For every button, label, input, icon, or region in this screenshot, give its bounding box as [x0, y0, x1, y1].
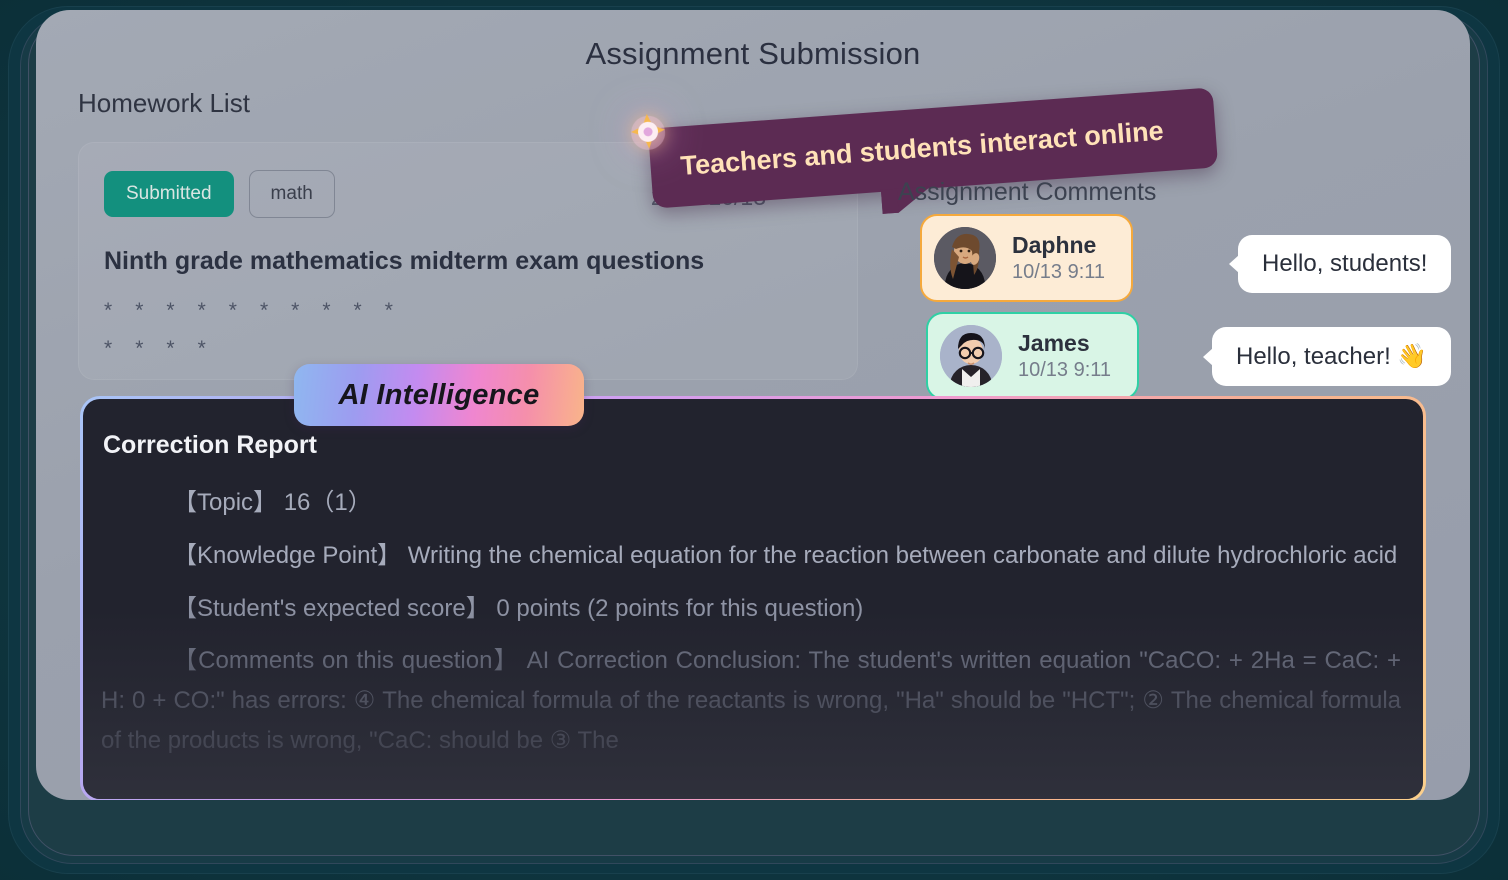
- report-line: 【Knowledge Point】 Writing the chemical e…: [101, 536, 1401, 576]
- masked-char: *: [104, 300, 112, 321]
- ai-intelligence-badge[interactable]: AI Intelligence: [294, 364, 584, 426]
- masked-char: *: [198, 300, 206, 321]
- comment-timestamp: 10/13 9:11: [1012, 261, 1105, 284]
- comment-meta-james: James 10/13 9:11: [1018, 330, 1111, 382]
- comment-timestamp: 10/13 9:11: [1018, 359, 1111, 382]
- masked-char: *: [322, 300, 330, 321]
- report-line: 【Student's expected score】 0 points (2 p…: [101, 589, 1401, 629]
- masked-content-row-1: **********: [104, 300, 393, 321]
- avatar-daphne: [934, 227, 996, 289]
- correction-report-body: 【Topic】 16（1） 【Knowledge Point】 Writing …: [101, 483, 1401, 774]
- masked-char: *: [198, 338, 206, 359]
- interaction-tooltip-text: Teachers and students interact online: [680, 116, 1165, 182]
- comment-author-name: James: [1018, 330, 1111, 357]
- masked-char: *: [385, 300, 393, 321]
- avatar-james: [940, 325, 1002, 387]
- app-screen: Assignment Submission Homework List Subm…: [36, 10, 1470, 800]
- masked-char: *: [354, 300, 362, 321]
- page-title: Assignment Submission: [36, 36, 1470, 72]
- report-line: 【Topic】 16（1）: [101, 483, 1401, 523]
- assignment-comments-heading: Assignment Comments: [898, 178, 1156, 207]
- masked-char: *: [135, 338, 143, 359]
- chat-bubble-teacher[interactable]: Hello, students!: [1238, 235, 1451, 293]
- ai-intelligence-label: AI Intelligence: [338, 379, 539, 412]
- homework-list-heading: Homework List: [78, 88, 250, 119]
- masked-char: *: [166, 338, 174, 359]
- homework-tag-row: Submitted math: [104, 170, 335, 218]
- comment-meta-daphne: Daphne 10/13 9:11: [1012, 232, 1105, 284]
- masked-char: *: [229, 300, 237, 321]
- masked-char: *: [260, 300, 268, 321]
- comment-author-name: Daphne: [1012, 232, 1105, 259]
- masked-char: *: [135, 300, 143, 321]
- masked-char: *: [291, 300, 299, 321]
- masked-content-row-2: ****: [104, 338, 206, 359]
- correction-report-panel[interactable]: Correction Report 【Topic】 16（1） 【Knowled…: [83, 399, 1423, 799]
- chat-bubble-student[interactable]: Hello, teacher! 👋: [1212, 327, 1451, 386]
- homework-title: Ninth grade mathematics midterm exam que…: [104, 247, 704, 276]
- subject-tag-math[interactable]: math: [249, 170, 335, 218]
- correction-report-title: Correction Report: [103, 431, 317, 460]
- masked-char: *: [104, 338, 112, 359]
- status-badge-submitted[interactable]: Submitted: [104, 171, 234, 217]
- sparkle-icon: [625, 109, 672, 156]
- correction-report-panel-border: Correction Report 【Topic】 16（1） 【Knowled…: [80, 396, 1426, 800]
- comment-card-james[interactable]: James 10/13 9:11: [926, 312, 1139, 400]
- comment-card-daphne[interactable]: Daphne 10/13 9:11: [920, 214, 1133, 302]
- masked-char: *: [166, 300, 174, 321]
- report-line: 【Comments on this question】 AI Correctio…: [101, 641, 1401, 760]
